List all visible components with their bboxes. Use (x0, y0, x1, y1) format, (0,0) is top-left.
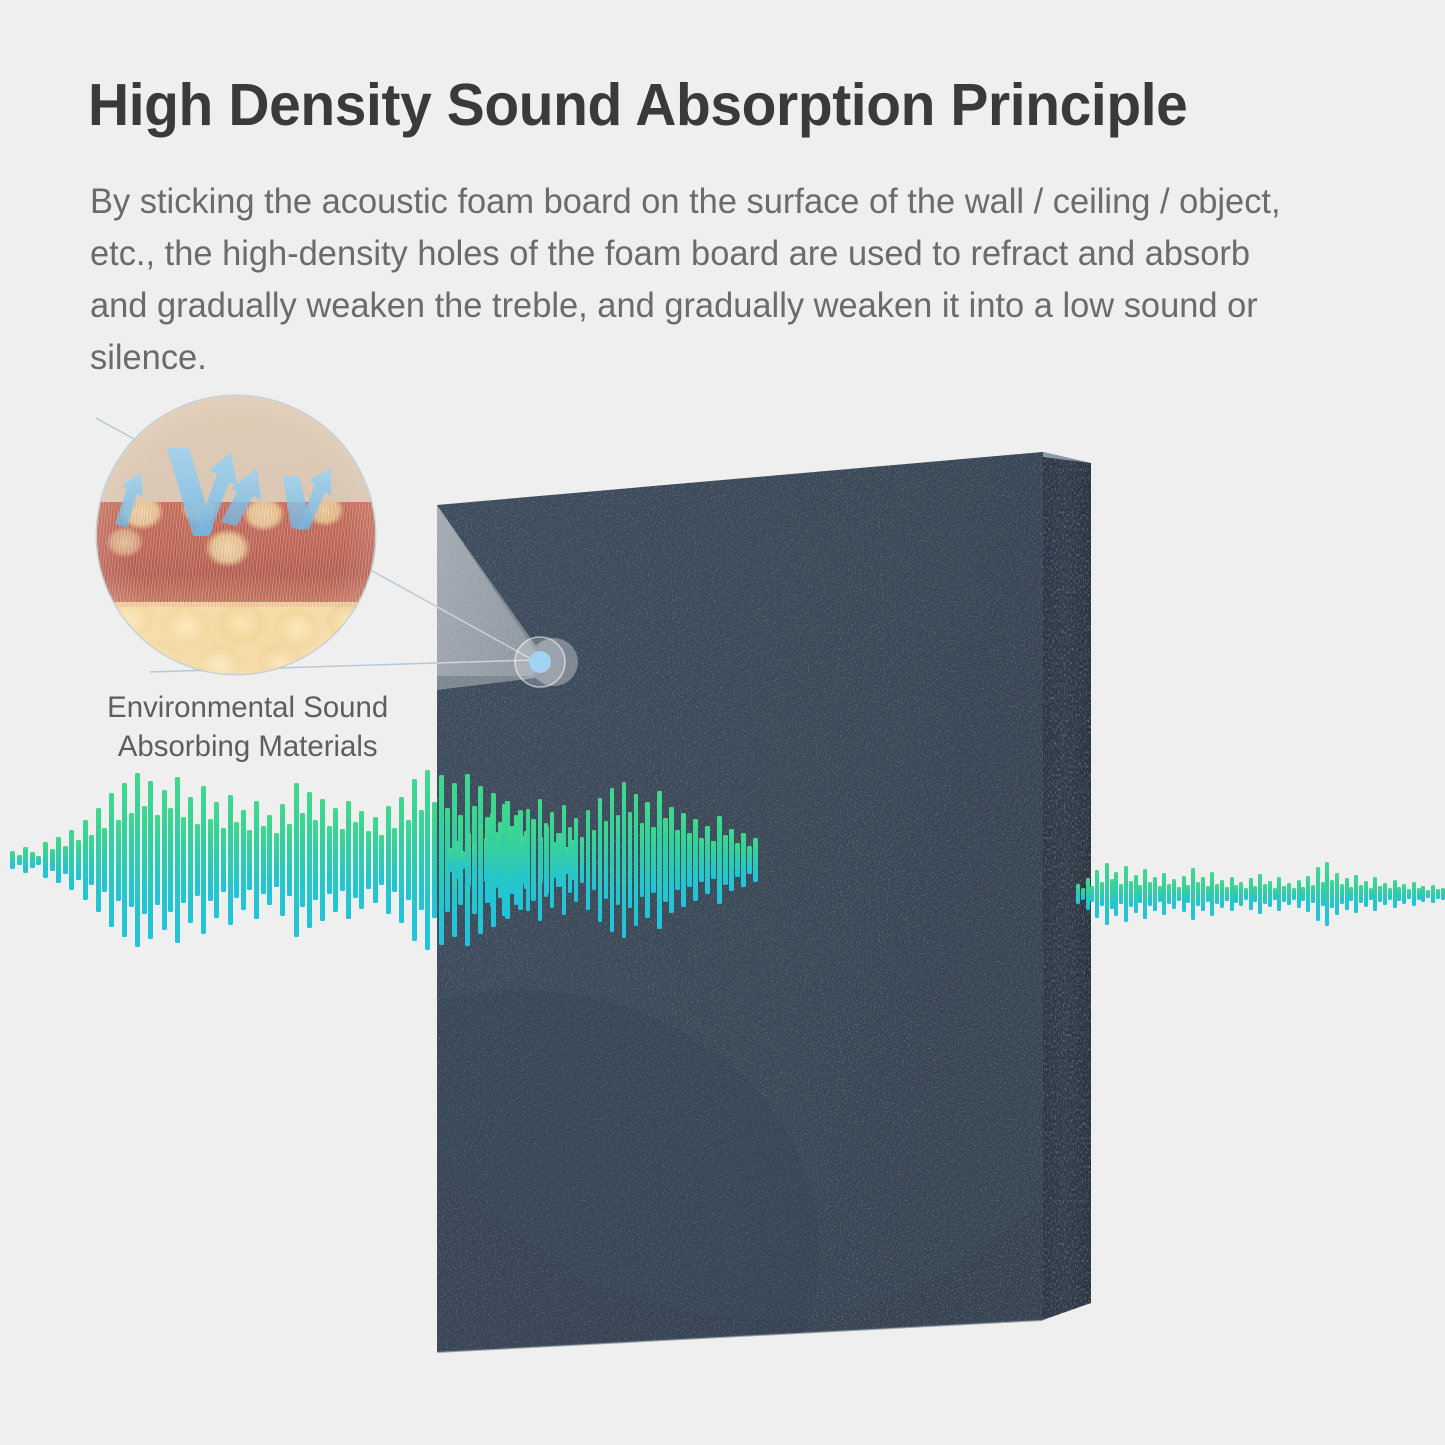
waveform-bar (406, 820, 411, 899)
waveform-bar (550, 812, 555, 909)
waveform-bar (36, 856, 41, 865)
panel-bottom-edge (437, 1320, 1043, 1352)
waveform-bar (50, 849, 55, 871)
waveform-bar (1234, 885, 1238, 902)
waveform-bar (592, 830, 597, 889)
waveform-bar (520, 835, 525, 885)
waveform-bar (1306, 876, 1310, 913)
waveform-bar (122, 783, 127, 938)
page-description: By sticking the acoustic foam board on t… (90, 175, 1310, 383)
waveform-bar (359, 811, 364, 908)
waveform-bar (1321, 882, 1325, 906)
waveform-bar (241, 810, 246, 911)
waveform-bar (1196, 882, 1200, 906)
waveform-bar (651, 827, 656, 893)
waveform-bar (598, 798, 603, 923)
waveform-bar (687, 833, 692, 886)
waveform-bar (221, 828, 226, 893)
waveform-bar (83, 820, 88, 899)
waveform-bar (56, 837, 61, 884)
waveform-bar (17, 855, 22, 866)
waveform-bar (399, 797, 404, 923)
waveform-bar (526, 809, 531, 912)
waveform-bar (1095, 870, 1099, 918)
waveform-bar (616, 815, 621, 905)
waveform-bar (1292, 888, 1296, 899)
infographic-canvas: High Density Sound Absorption Principle … (0, 0, 1445, 1445)
magnifier-vignette (97, 396, 375, 674)
waveform-bar (669, 807, 674, 913)
magnifier-caption: Environmental Sound Absorbing Materials (86, 688, 409, 766)
waveform-bar (1081, 888, 1085, 899)
waveform-bar (1268, 881, 1272, 907)
waveform-bar (1167, 884, 1171, 904)
waveform-bar (1100, 882, 1104, 906)
waveform-bar (142, 806, 147, 914)
waveform-bar (711, 841, 716, 878)
waveform-bar (1086, 878, 1090, 909)
magnifier-circle (97, 396, 375, 674)
waveform-bar (753, 838, 758, 882)
waveform-bar (1206, 886, 1210, 903)
waveform-bar (1186, 885, 1190, 903)
waveform-bar (1258, 874, 1262, 914)
waveform-bar (496, 832, 501, 888)
waveform-bar (562, 805, 567, 914)
waveform-bar (261, 826, 266, 894)
waveform-bar (1340, 884, 1344, 904)
waveform-bar (1148, 882, 1152, 906)
waveform-bar (1330, 880, 1334, 908)
waveform-bar (1225, 887, 1229, 901)
waveform-bar (1311, 885, 1315, 902)
waveform-bar (195, 824, 200, 896)
waveform-bar (346, 801, 351, 920)
waveform-bar (1412, 882, 1416, 906)
waveform-bar (634, 794, 639, 925)
waveform-bar (234, 822, 239, 898)
waveform-bar (705, 826, 710, 895)
waveform-bar (1397, 887, 1401, 901)
waveform-bar (307, 792, 312, 929)
waveform-bar (1273, 888, 1277, 901)
waveform-bar (466, 833, 471, 886)
waveform-bar (1402, 884, 1406, 904)
waveform-bar (1325, 862, 1329, 926)
waveform-bar (628, 812, 633, 909)
waveform-bar (129, 813, 134, 907)
waveform-bar (116, 820, 121, 901)
waveform-bar (532, 829, 537, 891)
waveform-bar (681, 813, 686, 907)
waveform-bar (340, 829, 345, 890)
waveform-bar (1431, 885, 1435, 903)
waveform-bar (1114, 872, 1118, 916)
waveform-bar (379, 835, 384, 885)
waveform-bar (1230, 877, 1234, 912)
waveform-bar (419, 810, 424, 911)
panel-marker-dot (529, 651, 551, 673)
waveform-bar (294, 783, 299, 938)
waveform-bar (373, 817, 378, 903)
waveform-bar (1220, 880, 1224, 908)
waveform-bar (735, 843, 740, 877)
waveform-bar (1421, 886, 1425, 903)
waveform-bar (610, 788, 615, 932)
waveform-bar (747, 846, 752, 874)
waveform-bar (280, 804, 285, 916)
waveform-bar (484, 838, 489, 882)
waveform-bar (247, 830, 252, 889)
waveform-bar (1239, 882, 1243, 906)
waveform-bar (1316, 867, 1320, 920)
waveform-bar (1172, 879, 1176, 908)
waveform-bar (155, 815, 160, 905)
waveform-bar (148, 781, 153, 939)
waveform-bar (645, 802, 650, 917)
waveform-bar (1129, 881, 1133, 907)
waveform-bar (1105, 863, 1109, 926)
waveform-bar (538, 799, 543, 921)
waveform-bar (472, 844, 477, 875)
waveform-bar (214, 802, 219, 917)
waveform-bar (353, 822, 358, 898)
waveform-bar (1191, 868, 1195, 920)
waveform-bar (741, 833, 746, 886)
waveform-bar (1282, 886, 1286, 903)
waveform-bar (1134, 875, 1138, 914)
waveform-bar (1177, 887, 1181, 902)
waveform-bar (568, 827, 573, 893)
waveform-bar (162, 790, 167, 930)
waveform-bar (1287, 883, 1291, 905)
waveform-bar (1143, 869, 1147, 919)
waveform-bar (663, 818, 668, 902)
waveform-bar (622, 782, 627, 938)
waveform-bar (1210, 872, 1214, 916)
waveform-bar (448, 848, 453, 873)
waveform-bar (23, 847, 28, 872)
waveform-bar (1436, 889, 1440, 898)
waveform-bar (1119, 884, 1123, 904)
waveform-bar (1215, 884, 1219, 904)
waveform-bar (1349, 887, 1353, 902)
waveform-bar (454, 841, 459, 878)
waveform-bar (657, 791, 662, 928)
waveform-bar (490, 813, 495, 907)
panel-top-edge (437, 452, 1091, 505)
waveform-bar (1263, 884, 1267, 903)
waveform-bar (96, 808, 101, 912)
waveform-bar (43, 842, 48, 878)
waveform-bar (208, 819, 213, 902)
waveform-bar (1158, 886, 1162, 903)
waveform-bar (254, 801, 259, 920)
waveform-bar (274, 833, 279, 887)
waveform-bar (1345, 878, 1349, 909)
waveform-bar (1359, 885, 1363, 903)
waveform-bar (386, 806, 391, 914)
waveform-bar (556, 833, 561, 886)
attenuated-sound-waveform (1076, 848, 1445, 940)
waveform-bar (729, 829, 734, 891)
waveform-bar (1354, 875, 1358, 914)
waveform-bar (63, 846, 68, 875)
waveform-bar (1417, 888, 1421, 900)
waveform-bar (135, 773, 140, 948)
waveform-bar (675, 830, 680, 889)
waveform-bar (1378, 886, 1382, 902)
waveform-bar (1388, 888, 1392, 899)
waveform-bar (1369, 888, 1373, 901)
waveform-bar (723, 835, 728, 885)
waveform-bar (508, 826, 513, 895)
waveform-bar (313, 820, 318, 899)
waveform-bar (181, 817, 186, 903)
waveform-bar (267, 815, 272, 905)
waveform-bar (693, 819, 698, 900)
waveform-bar (1383, 883, 1387, 905)
waveform-bar (586, 810, 591, 910)
transmitted-sound-waveform (448, 782, 758, 938)
waveform-bar (188, 797, 193, 923)
waveform-bar (1253, 886, 1257, 902)
waveform-bar (1138, 885, 1142, 903)
waveform-bar (1153, 877, 1157, 912)
waveform-bar (1426, 890, 1430, 898)
waveform-bar (175, 777, 180, 943)
waveform-bar (544, 823, 549, 898)
waveform-bar (439, 775, 444, 944)
waveform-bar (1277, 877, 1281, 910)
waveform-bar (366, 831, 371, 889)
waveform-bar (574, 818, 579, 902)
waveform-bar (1076, 884, 1080, 904)
waveform-bar (460, 851, 465, 870)
waveform-bar (69, 830, 74, 889)
waveform-bar (717, 816, 722, 903)
waveform-bar (392, 828, 397, 893)
waveform-bar (1373, 877, 1377, 910)
waveform-bar (1110, 879, 1114, 908)
waveform-bar (10, 851, 15, 869)
waveform-bar (201, 786, 206, 934)
waveform-bar (502, 804, 507, 916)
waveform-bar (109, 793, 114, 926)
waveform-bar (412, 779, 417, 941)
waveform-bar (287, 824, 292, 896)
waveform-bar (228, 795, 233, 925)
waveform-bar (102, 828, 107, 893)
waveform-bar (1441, 888, 1445, 901)
waveform-bar (89, 835, 94, 885)
waveform-bar (320, 799, 325, 921)
waveform-bar (300, 813, 305, 907)
waveform-bar (1182, 876, 1186, 913)
waveform-bar (1297, 880, 1301, 908)
waveform-bar (168, 808, 173, 912)
waveform-bar (1364, 881, 1368, 907)
waveform-bar (1393, 880, 1397, 908)
waveform-bar (1162, 873, 1166, 915)
waveform-bar (432, 802, 437, 917)
waveform-bar (1301, 887, 1305, 901)
waveform-bar (1244, 888, 1248, 901)
waveform-bar (333, 808, 338, 912)
waveform-bar (76, 840, 81, 880)
waveform-bar (514, 815, 519, 905)
waveform-bar (1407, 889, 1411, 899)
waveform-bar (604, 821, 609, 899)
waveform-bar (327, 826, 332, 894)
waveform-bar (1201, 877, 1205, 910)
page-title: High Density Sound Absorption Principle (88, 72, 1323, 138)
waveform-bar (1249, 878, 1253, 909)
waveform-bar (640, 823, 645, 898)
waveform-bar (699, 838, 704, 882)
waveform-bar (580, 837, 585, 884)
waveform-bar (30, 852, 35, 868)
waveform-bar (1335, 873, 1339, 915)
waveform-bar (478, 824, 483, 896)
waveform-bar (1090, 886, 1094, 903)
waveform-bar (425, 770, 430, 950)
waveform-bar (1124, 866, 1128, 921)
